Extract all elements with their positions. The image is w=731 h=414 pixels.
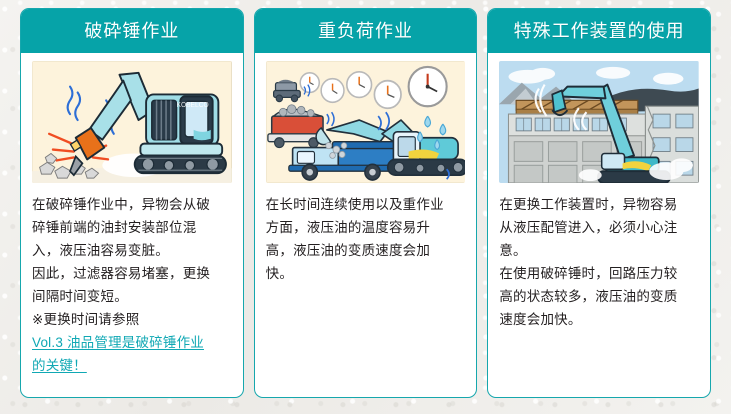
card-body-text: 在长时间连续使用以及重作业 方面，液压油的温度容易升 高，液压油的变质速度会加 … [266,193,466,285]
svg-text:KOBELCO: KOBELCO [177,102,209,109]
cards-row: 破砕锤作业 [0,0,731,414]
card-body: KOBELCO 在破碎锤作业中，异物会从破 碎锤前端的油封安装部位混 入，液压油… [21,53,243,397]
card-reference-link[interactable]: Vol.3 油品管理是破碎锤作业 的关键！ [32,331,232,377]
card-header-title: 破砕锤作业 [21,9,243,53]
card-special-attachment-use: 特殊工作装置的使用 [487,8,711,398]
card-header-title: 重负荷作业 [255,9,477,53]
card-body: 在长时间连续使用以及重作业 方面，液压油的温度容易升 高，液压油的变质速度会加 … [255,53,477,397]
high-reach-demolition-excavator-illustration [499,61,699,183]
excavator-breaker-hammer-illustration: KOBELCO [32,61,232,183]
info-cards-board: 破砕锤作业 [0,0,731,414]
excavator-loading-dump-truck-clocks-illustration [266,61,466,183]
card-header-title: 特殊工作装置的使用 [488,9,710,53]
card-breaker-hammer-operation: 破砕锤作业 [20,8,244,398]
card-body: 在更换工作装置时，异物容易 从液压配管进入，必须小心注 意。 在使用破碎锤时，回… [488,53,710,397]
card-heavy-duty-operation: 重负荷作业 [254,8,478,398]
card-body-text: 在更换工作装置时，异物容易 从液压配管进入，必须小心注 意。 在使用破碎锤时，回… [499,193,699,331]
card-body-text: 在破碎锤作业中，异物会从破 碎锤前端的油封安装部位混 入，液压油容易变脏。 因此… [32,193,232,331]
